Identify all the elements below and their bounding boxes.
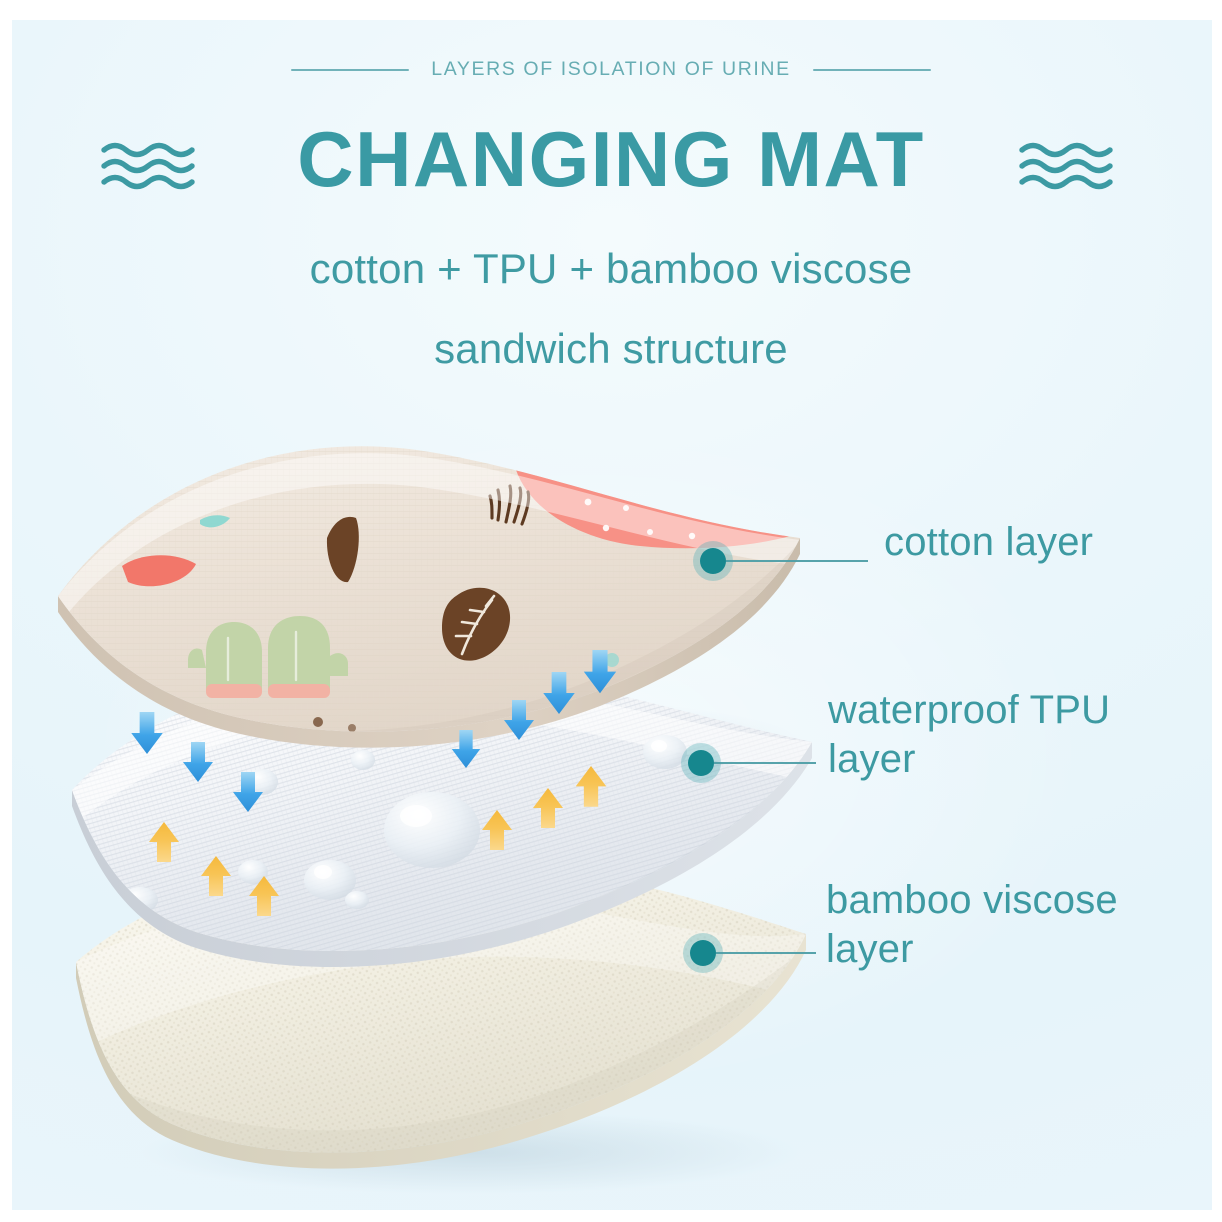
callout-dot-bamboo: [690, 940, 716, 966]
callout-label-tpu: waterproof TPU layer: [828, 686, 1110, 784]
callout-line-cotton: [726, 560, 868, 562]
infographic-canvas: LAYERS OF ISOLATION OF URINE CHANGING MA…: [0, 0, 1222, 1222]
eyebrow-text: LAYERS OF ISOLATION OF URINE: [431, 58, 790, 81]
callout-label-cotton: cotton layer: [884, 518, 1093, 567]
callout-line-tpu: [714, 762, 816, 764]
subtitle-line-1: cotton + TPU + bamboo viscose: [0, 245, 1222, 293]
callout-dot-tpu: [688, 750, 714, 776]
callout-dot-cotton: [700, 548, 726, 574]
eyebrow-row: LAYERS OF ISOLATION OF URINE: [0, 58, 1222, 81]
callout-line-bamboo: [716, 952, 816, 954]
eyebrow-rule-right: [813, 69, 931, 71]
eyebrow-rule-left: [291, 69, 409, 71]
page-title: CHANGING MAT: [0, 118, 1222, 201]
subtitle-line-2: sandwich structure: [0, 325, 1222, 373]
callout-label-bamboo: bamboo viscose layer: [826, 876, 1118, 974]
